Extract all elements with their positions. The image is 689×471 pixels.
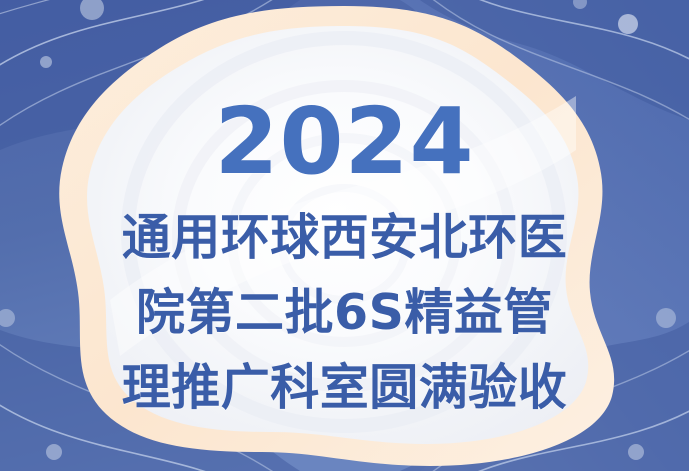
bubble-dot-2: [40, 56, 52, 68]
bubble-dot-4: [46, 444, 62, 460]
poster-canvas: 2024 通用环球西安北环医 院第二批6S精益管 理推广科室圆满验收: [0, 0, 689, 471]
bubble-dot-6: [656, 308, 676, 328]
poster-background-art: [0, 0, 689, 471]
bubble-dot-5: [618, 14, 638, 34]
bubble-dot-7: [628, 444, 644, 460]
